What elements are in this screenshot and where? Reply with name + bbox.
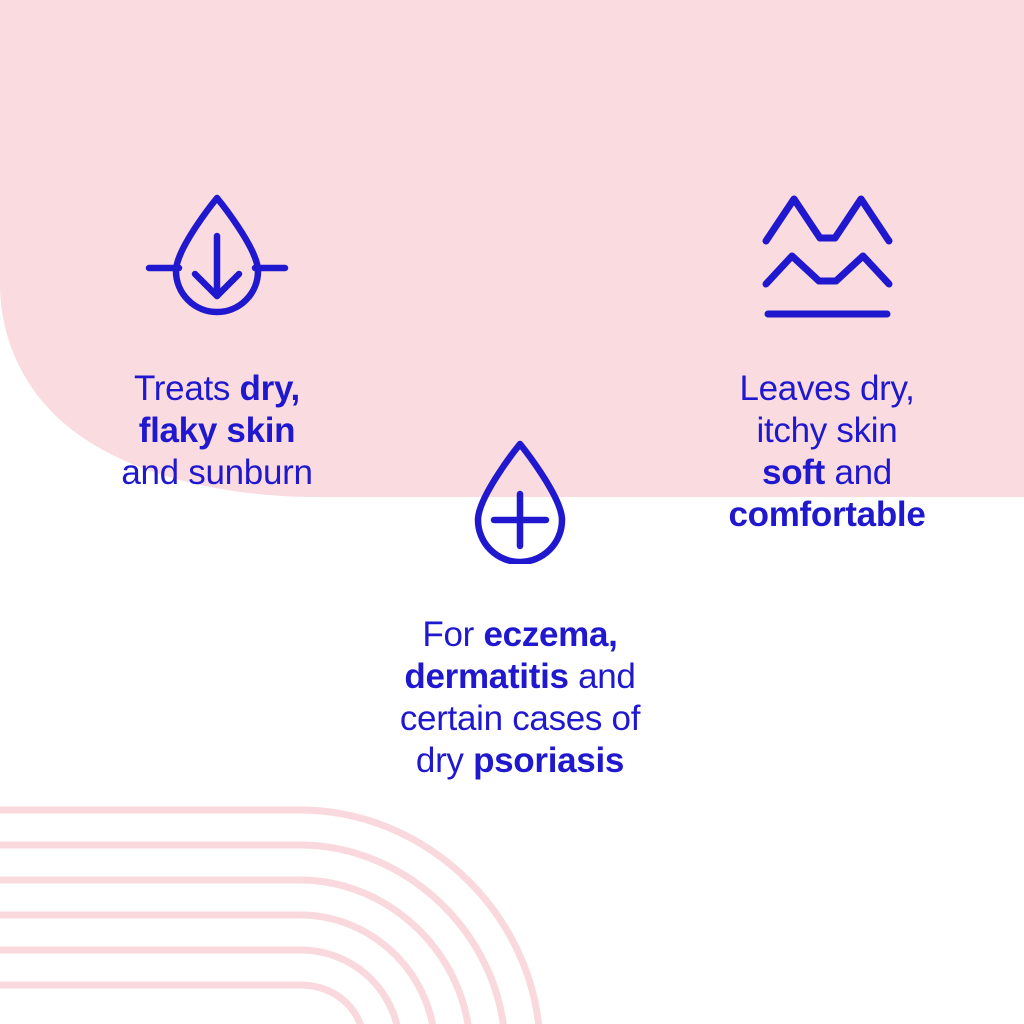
text-line: Leaves dry, [739,369,914,408]
text-line: dermatitis and [404,657,635,696]
text-line: certain cases of [400,699,640,738]
text-line: dry psoriasis [416,741,624,780]
feature-eczema-dermatitis-psoriasis: For eczema,dermatitis andcertain cases o… [360,434,680,782]
text-line: itchy skin [757,411,898,450]
feature-leaves-skin-soft-comfortable: Leaves dry,itchy skinsoft andcomfortable [672,186,982,536]
text-line: and sunburn [121,453,312,492]
text-line: soft and [762,453,892,492]
feature-treats-label: Treats dry,flaky skinand sunburn [121,368,312,494]
text-line: For eczema, [422,615,617,654]
feature-treats-dry-flaky-skin: Treats dry,flaky skinand sunburn [62,186,372,494]
infographic-canvas: Treats dry,flaky skinand sunburn For ecz… [0,0,1024,1024]
text-line: Treats dry, [134,369,300,408]
feature-leaves-label: Leaves dry,itchy skinsoft andcomfortable [728,368,925,536]
concentric-rounded-lines [0,784,620,1024]
feature-eczema-label: For eczema,dermatitis andcertain cases o… [400,614,640,782]
waves-icon [760,186,895,326]
text-line: comfortable [728,495,925,534]
droplet-down-arrow-icon [142,186,292,316]
droplet-plus-icon [465,434,575,564]
text-line: flaky skin [139,411,296,450]
